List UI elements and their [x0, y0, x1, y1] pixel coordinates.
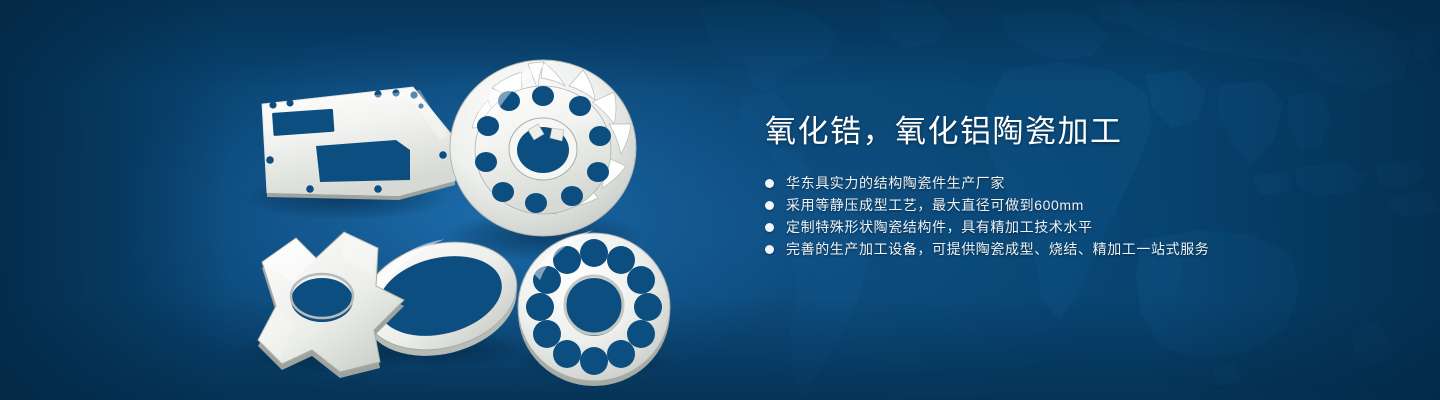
list-item: 采用等静压成型工艺，最大直径可做到600mm: [765, 194, 1365, 216]
bullet-dot-icon: [765, 201, 774, 210]
banner-text-block: 氧化锆，氧化铝陶瓷加工 华东具实力的结构陶瓷件生产厂家 采用等静压成型工艺，最大…: [765, 112, 1365, 260]
bullet-dot-icon: [765, 179, 774, 188]
list-item-label: 采用等静压成型工艺，最大直径可做到600mm: [786, 194, 1084, 216]
ceramic-mounting-plate: [262, 87, 456, 200]
list-item-label: 完善的生产加工设备，可提供陶瓷成型、烧结、精加工一站式服务: [786, 238, 1209, 260]
list-item-label: 定制特殊形状陶瓷结构件，具有精加工技术水平: [786, 216, 1093, 238]
feature-list: 华东具实力的结构陶瓷件生产厂家 采用等静压成型工艺，最大直径可做到600mm 定…: [765, 172, 1365, 260]
page-title: 氧化锆，氧化铝陶瓷加工: [765, 112, 1365, 152]
ceramic-products-image: [0, 0, 720, 400]
list-item: 完善的生产加工设备，可提供陶瓷成型、烧结、精加工一站式服务: [765, 238, 1365, 260]
list-item: 定制特殊形状陶瓷结构件，具有精加工技术水平: [765, 216, 1365, 238]
bullet-dot-icon: [765, 245, 774, 254]
list-item-label: 华东具实力的结构陶瓷件生产厂家: [786, 172, 1005, 194]
bullet-dot-icon: [765, 223, 774, 232]
product-banner: 氧化锆，氧化铝陶瓷加工 华东具实力的结构陶瓷件生产厂家 采用等静压成型工艺，最大…: [0, 0, 1440, 400]
list-item: 华东具实力的结构陶瓷件生产厂家: [765, 172, 1365, 194]
ceramic-impeller-disc: [450, 60, 636, 236]
